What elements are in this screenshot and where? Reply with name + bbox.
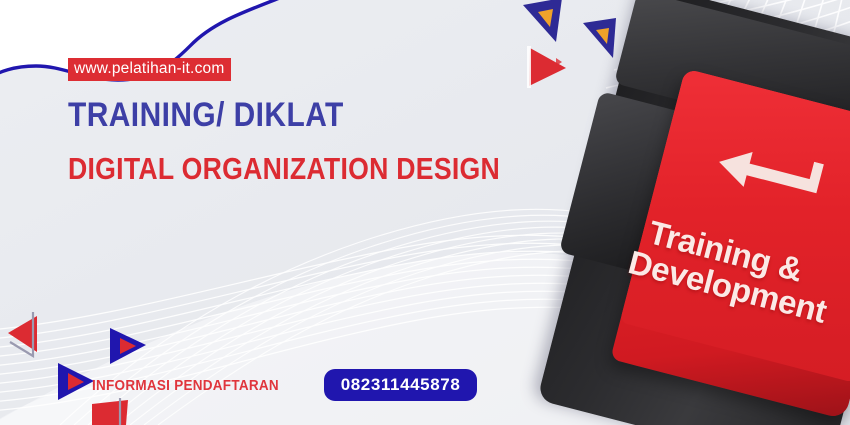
promo-banner: Training & Development www.pelatihan-it.… <box>0 0 850 425</box>
contact-row: INFORMASI PENDAFTARAN 082311445878 <box>92 369 477 401</box>
website-url-chip[interactable]: www.pelatihan-it.com <box>68 58 231 81</box>
headline-block: www.pelatihan-it.com TRAINING/ DIKLAT DI… <box>68 58 528 184</box>
triangle-blue-left-1 <box>523 0 562 42</box>
triangle-red-right-top <box>527 46 566 88</box>
triangle-red-bottom <box>92 398 128 425</box>
page-title-primary: TRAINING/ DIKLAT <box>68 98 473 132</box>
triangle-blue-left-2 <box>583 18 616 58</box>
page-title-secondary: DIGITAL ORGANIZATION DESIGN <box>68 153 464 184</box>
triangle-blue-right-1 <box>110 328 146 364</box>
triangle-red-left-bottom <box>8 312 37 356</box>
triangle-blue-right-2 <box>58 363 94 400</box>
phone-number-badge[interactable]: 082311445878 <box>324 369 478 401</box>
registration-info-label: INFORMASI PENDAFTARAN <box>92 377 279 394</box>
